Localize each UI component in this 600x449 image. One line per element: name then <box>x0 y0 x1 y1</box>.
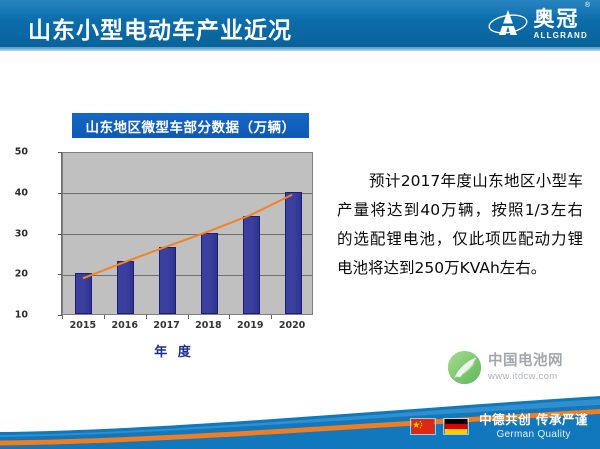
chart-y-tick-mark <box>58 193 62 194</box>
chart-x-tick-label: 2020 <box>279 320 305 331</box>
chart-y-tick-label: 20 <box>6 269 28 280</box>
chart-gridline <box>63 234 312 235</box>
footer-band: 中德共创 传承严谨 German Quality <box>0 396 600 449</box>
watermark-site-url: www.itdcw.com <box>488 372 563 382</box>
chart-y-tick-mark <box>58 274 62 275</box>
chart-x-tick-mark <box>146 315 147 319</box>
chart-gridline <box>63 193 312 194</box>
registered-trademark-icon: ® <box>585 2 590 9</box>
chart-title: 山东地区微型车部分数据（万辆） <box>72 113 309 138</box>
brand-name-cn: 奥冠 <box>534 9 580 30</box>
chart-y-tick-label: 30 <box>6 228 28 239</box>
chart-y-tick-label: 40 <box>6 187 28 198</box>
footer-content: 中德共创 传承严谨 German Quality <box>410 414 588 440</box>
chart-x-tick-label: 2017 <box>153 320 179 331</box>
china-flag-icon <box>410 418 436 435</box>
chart-y-tick-mark <box>58 152 62 153</box>
chart-y-tick-label: 50 <box>6 147 28 158</box>
slide-canvas: 山东小型电动车产业近况 奥冠 ALLGRAND ® 山东地区微型车部分数据（万辆… <box>0 0 600 449</box>
body-paragraph: 预计2017年度山东地区小型车产量将达到40万辆，按照1/3左右的选配锂电池，仅… <box>337 167 583 283</box>
chart-y-tick-label: 10 <box>6 310 28 321</box>
chart-bar <box>243 216 260 314</box>
footer-slogan: 中德共创 传承严谨 German Quality <box>479 414 588 440</box>
footer-slogan-en: German Quality <box>479 430 588 440</box>
chart-gridline <box>63 275 312 276</box>
chart-plot-area <box>62 152 313 315</box>
header-underline <box>0 47 600 51</box>
chart-x-tick-label: 2016 <box>112 320 138 331</box>
brand-name-en: ALLGRAND <box>534 32 588 40</box>
watermark-site-name: 中国电池网 <box>488 354 563 369</box>
chart-bar <box>285 192 302 314</box>
page-title: 山东小型电动车产业近况 <box>28 11 292 45</box>
chart-bar <box>75 273 92 314</box>
bar-chart: 1020304050201520162017201820192020 年 度 <box>24 146 324 361</box>
chart-bar <box>159 247 176 314</box>
chart-x-tick-mark <box>188 315 189 319</box>
chart-y-tick-mark <box>58 234 62 235</box>
chart-x-tick-mark <box>62 315 63 319</box>
chart-x-tick-mark <box>271 315 272 319</box>
brand-logo: 奥冠 ALLGRAND ® <box>488 5 588 43</box>
chart-x-tick-mark <box>104 315 105 319</box>
brand-text: 奥冠 ALLGRAND <box>534 9 588 40</box>
chart-x-axis-label: 年 度 <box>24 341 324 360</box>
footer-slogan-cn: 中德共创 传承严谨 <box>479 414 588 427</box>
chart-x-tick-label: 2018 <box>195 320 221 331</box>
allgrand-a-mark-icon <box>488 7 528 41</box>
germany-flag-icon <box>443 418 469 435</box>
watermark: 中国电池网 www.itdcw.com <box>446 349 563 386</box>
chart-bar <box>201 233 218 315</box>
leaf-globe-icon <box>446 349 483 386</box>
watermark-texts: 中国电池网 www.itdcw.com <box>488 354 563 382</box>
chart-x-tick-label: 2015 <box>70 320 96 331</box>
chart-x-tick-mark <box>229 315 230 319</box>
chart-bar <box>117 261 134 314</box>
allgrand-a-icon-svg <box>488 7 528 41</box>
chart-x-tick-label: 2019 <box>237 320 263 331</box>
